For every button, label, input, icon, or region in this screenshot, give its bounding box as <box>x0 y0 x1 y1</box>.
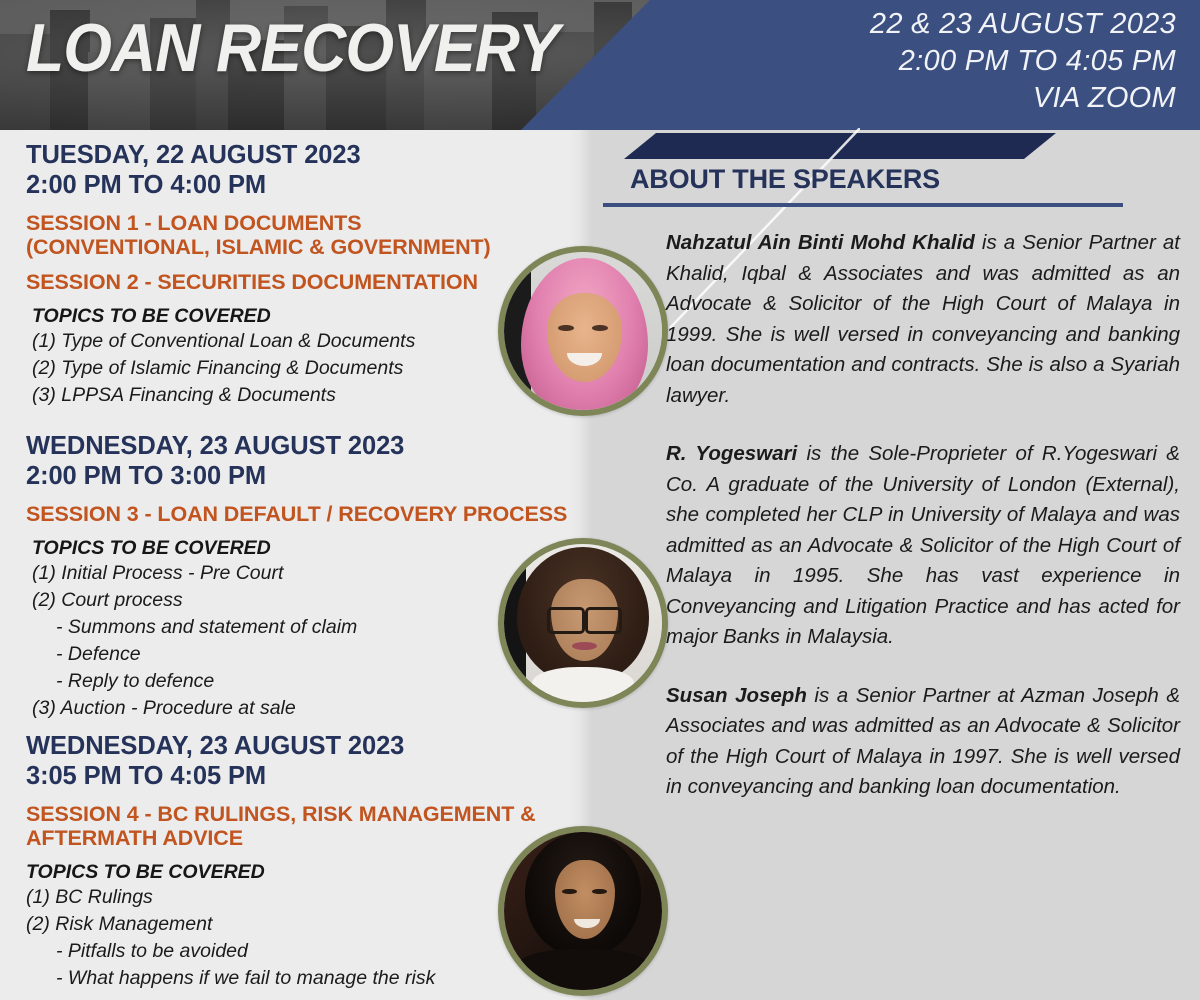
photo-background <box>504 544 662 702</box>
date-banner-text: 22 & 23 AUGUST 2023 2:00 PM TO 4:05 PM V… <box>870 6 1176 117</box>
photo-background <box>504 832 662 990</box>
schedule-block-3: WEDNESDAY, 23 AUGUST 2023 3:05 PM TO 4:0… <box>26 731 586 992</box>
poster-title: LOAN RECOVERY <box>26 8 559 88</box>
topic-item: (2) Type of Islamic Financing & Document… <box>26 355 546 382</box>
eye-right <box>592 325 608 331</box>
topic-subitem: - Defence <box>26 641 567 668</box>
topic-subitem: - Pitfalls to be avoided <box>26 938 586 965</box>
topic-subitem: - What happens if we fail to manage the … <box>26 965 586 992</box>
glasses-icon <box>547 607 623 628</box>
about-divider-rule <box>603 203 1123 207</box>
schedule-day-3: WEDNESDAY, 23 AUGUST 2023 <box>26 731 586 761</box>
speaker-bio-text-2: is the Sole-Proprieter of R.Yogeswari & … <box>666 442 1180 648</box>
speaker-bio-1: Nahzatul Ain Binti Mohd Khalid is a Seni… <box>666 228 1180 411</box>
speaker-photo-nahzatul-ain <box>498 246 668 416</box>
topic-subitem: - Reply to defence <box>26 668 567 695</box>
session-title-4: SESSION 4 - BC RULINGS, RISK MANAGEMENT … <box>26 802 586 850</box>
session-title-1: SESSION 1 - LOAN DOCUMENTS (CONVENTIONAL… <box>26 211 546 259</box>
speaker-photo-susan-joseph <box>498 826 668 996</box>
banner-line-platform: VIA ZOOM <box>870 80 1176 117</box>
schedule-time-3: 3:05 PM TO 4:05 PM <box>26 761 586 791</box>
topic-item: (1) Type of Conventional Loan & Document… <box>26 328 546 355</box>
topics-heading-1: TOPICS TO BE COVERED <box>26 304 546 328</box>
topic-item: (1) Initial Process - Pre Court <box>26 560 567 587</box>
topics-heading-2: TOPICS TO BE COVERED <box>26 536 567 560</box>
speaker-bio-3: Susan Joseph is a Senior Partner at Azma… <box>666 681 1180 803</box>
lips-shape <box>572 642 597 650</box>
session-title-3: SESSION 3 - LOAN DEFAULT / RECOVERY PROC… <box>26 502 567 526</box>
topic-subitem: - Summons and statement of claim <box>26 614 567 641</box>
speaker-name-2: R. Yogeswari <box>666 442 797 465</box>
topics-heading-3: TOPICS TO BE COVERED <box>26 860 586 884</box>
topic-item: (3) Auction - Procedure at sale <box>26 695 567 722</box>
schedule-block-1: TUESDAY, 22 AUGUST 2023 2:00 PM TO 4:00 … <box>26 140 546 409</box>
speaker-photo-r-yogeswari <box>498 538 668 708</box>
banner-line-time: 2:00 PM TO 4:05 PM <box>870 43 1176 80</box>
speaker-bio-text-1: is a Senior Partner at Khalid, Iqbal & A… <box>666 231 1180 407</box>
clothing-shape <box>532 667 633 702</box>
photo-background <box>504 252 662 410</box>
schedule-day-2: WEDNESDAY, 23 AUGUST 2023 <box>26 431 567 461</box>
banner-line-date: 22 & 23 AUGUST 2023 <box>870 6 1176 43</box>
schedule-time-2: 2:00 PM TO 3:00 PM <box>26 461 567 491</box>
about-speakers-title: ABOUT THE SPEAKERS <box>630 164 940 195</box>
schedule-day-1: TUESDAY, 22 AUGUST 2023 <box>26 140 546 170</box>
clothing-shape <box>517 949 650 990</box>
session-title-2: SESSION 2 - SECURITIES DOCUMENTATION <box>26 270 546 294</box>
speaker-name-1: Nahzatul Ain Binti Mohd Khalid <box>666 231 975 254</box>
speaker-bios: Nahzatul Ain Binti Mohd Khalid is a Seni… <box>666 228 1180 803</box>
speaker-bio-2: R. Yogeswari is the Sole-Proprieter of R… <box>666 439 1180 653</box>
topic-item: (2) Court process <box>26 587 567 614</box>
poster-header: LOAN RECOVERY 22 & 23 AUGUST 2023 2:00 P… <box>0 0 1200 130</box>
about-heading-shape <box>624 133 1056 159</box>
schedule-block-2: WEDNESDAY, 23 AUGUST 2023 2:00 PM TO 3:0… <box>26 431 567 722</box>
speaker-name-3: Susan Joseph <box>666 684 807 707</box>
schedule-time-1: 2:00 PM TO 4:00 PM <box>26 170 546 200</box>
topic-item: (3) LPPSA Financing & Documents <box>26 382 546 409</box>
eye-left <box>558 325 574 331</box>
